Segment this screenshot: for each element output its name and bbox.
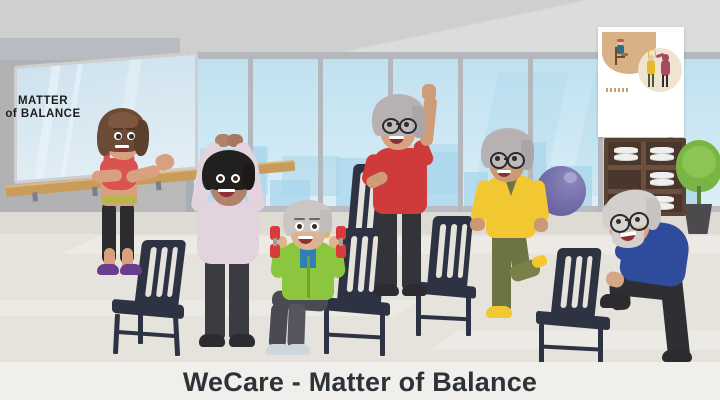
lavender-shoe (199, 334, 225, 347)
chair-leg (380, 312, 385, 356)
instructor-hair-fringe (108, 112, 138, 128)
poster-stretch-figure-left-arms (648, 49, 656, 57)
caption-title: WeCare - Matter of Balance (0, 367, 720, 398)
lavender-hair-side (243, 164, 255, 190)
yellow-hand-foot (534, 218, 548, 232)
eyeglasses-bridge (504, 158, 508, 160)
dumbbell (270, 244, 280, 258)
person-participant-yellow (470, 118, 560, 318)
person-participant-blue (580, 168, 720, 360)
redshirt-shoe (374, 284, 399, 296)
poster-seated-figure-chair (615, 56, 625, 58)
yellow-teeth (497, 170, 511, 173)
seated-shin (287, 304, 306, 349)
lavender-brow (230, 170, 241, 172)
redshirt-leg (378, 206, 397, 290)
poster-stretch-figure-right-body (661, 60, 670, 76)
redshirt-hand-raised (422, 84, 436, 100)
lavender-teeth (218, 189, 235, 192)
blue-shoe-back (662, 350, 692, 362)
poster-stretch-figure-right-legs (666, 75, 668, 87)
chair-rung (116, 330, 176, 338)
poster-stretch-figure-right-legs (662, 75, 664, 87)
person-instructor (84, 98, 194, 288)
poster-title-line2: of BALANCE (0, 108, 86, 120)
barre-bracket (32, 192, 38, 201)
window-mullion (318, 52, 323, 220)
exercise-ball-highlight (564, 172, 577, 183)
redshirt-teeth (389, 136, 404, 139)
lavender-pupil (218, 176, 223, 181)
seated-brow (309, 218, 320, 220)
instructor-hair-side (97, 124, 111, 156)
poster-subtitle-texture (606, 88, 628, 92)
blue-pupil (616, 219, 621, 224)
dumbbell-bar (339, 238, 343, 246)
lavender-leg (205, 256, 225, 340)
seated-pupil (297, 224, 302, 229)
chair-rung (418, 315, 468, 322)
blue-pupil (635, 217, 640, 222)
poster-stretch-figure-left-body (647, 60, 655, 75)
poster-title-line1: MATTER (0, 95, 86, 107)
seated-teeth (298, 236, 313, 239)
dumbbell-bar (273, 238, 277, 246)
eyeglasses-bridge (625, 219, 630, 221)
seated-shin (268, 303, 288, 348)
yellow-hand-rail (470, 218, 485, 231)
redshirt-leg (402, 206, 421, 290)
poster-stretch-figure-left-legs (652, 74, 654, 87)
redshirt-pupil (387, 122, 392, 127)
instructor-pupil (129, 134, 134, 139)
instructor-pupil (116, 134, 121, 139)
lavender-leg (229, 256, 249, 340)
seated-jacket-zipper (307, 256, 310, 298)
instructor-shoe (97, 264, 119, 275)
lavender-shoe (229, 334, 255, 347)
chair-leg (138, 310, 143, 344)
blue-shoe-front (600, 294, 630, 308)
blue-hair-side (646, 198, 661, 230)
scene-illustration: MATTER of BALANCE (0, 0, 720, 400)
seated-shoe (286, 344, 310, 355)
lavender-top (197, 200, 259, 264)
instructor-teeth (115, 145, 129, 148)
yellow-foot-lifted (531, 254, 549, 269)
lavender-pupil (233, 176, 238, 181)
instructor-brow (126, 128, 136, 130)
mirror-streak (34, 65, 61, 179)
person-participant-seated-dumbbells (262, 200, 362, 360)
instructor-arm-left (92, 169, 123, 183)
eyeglasses (507, 152, 525, 169)
eyeglasses (490, 152, 508, 169)
poster-seated-figure-legs (621, 53, 628, 56)
person-participant-red-shirt (360, 78, 456, 298)
instructor-brow (113, 128, 123, 130)
window-mullion (458, 52, 463, 220)
seated-earring (325, 232, 330, 238)
yellow-shoe (486, 306, 512, 318)
poster-seated-figure-hat (617, 39, 624, 42)
yellow-pupil (512, 156, 517, 161)
lavender-hair-side (202, 164, 214, 190)
poster-stretch-figure-left-legs (648, 74, 650, 87)
redshirt-shoe (402, 284, 427, 296)
seated-hair-side (283, 210, 294, 236)
folded-towel (650, 147, 674, 153)
instructor-shoe (120, 264, 142, 275)
yellow-pupil (495, 156, 500, 161)
seated-pupil (312, 224, 317, 229)
lavender-brow (215, 170, 226, 172)
folded-towel (614, 147, 638, 153)
mirror-streak (60, 64, 83, 178)
instructor-waistband (101, 196, 137, 204)
dumbbell (336, 244, 346, 258)
eyeglasses-bridge (396, 123, 400, 125)
folded-towel (650, 154, 674, 160)
folded-towel (614, 154, 638, 160)
redshirt-pupil (404, 122, 409, 127)
seated-brow (294, 218, 305, 220)
